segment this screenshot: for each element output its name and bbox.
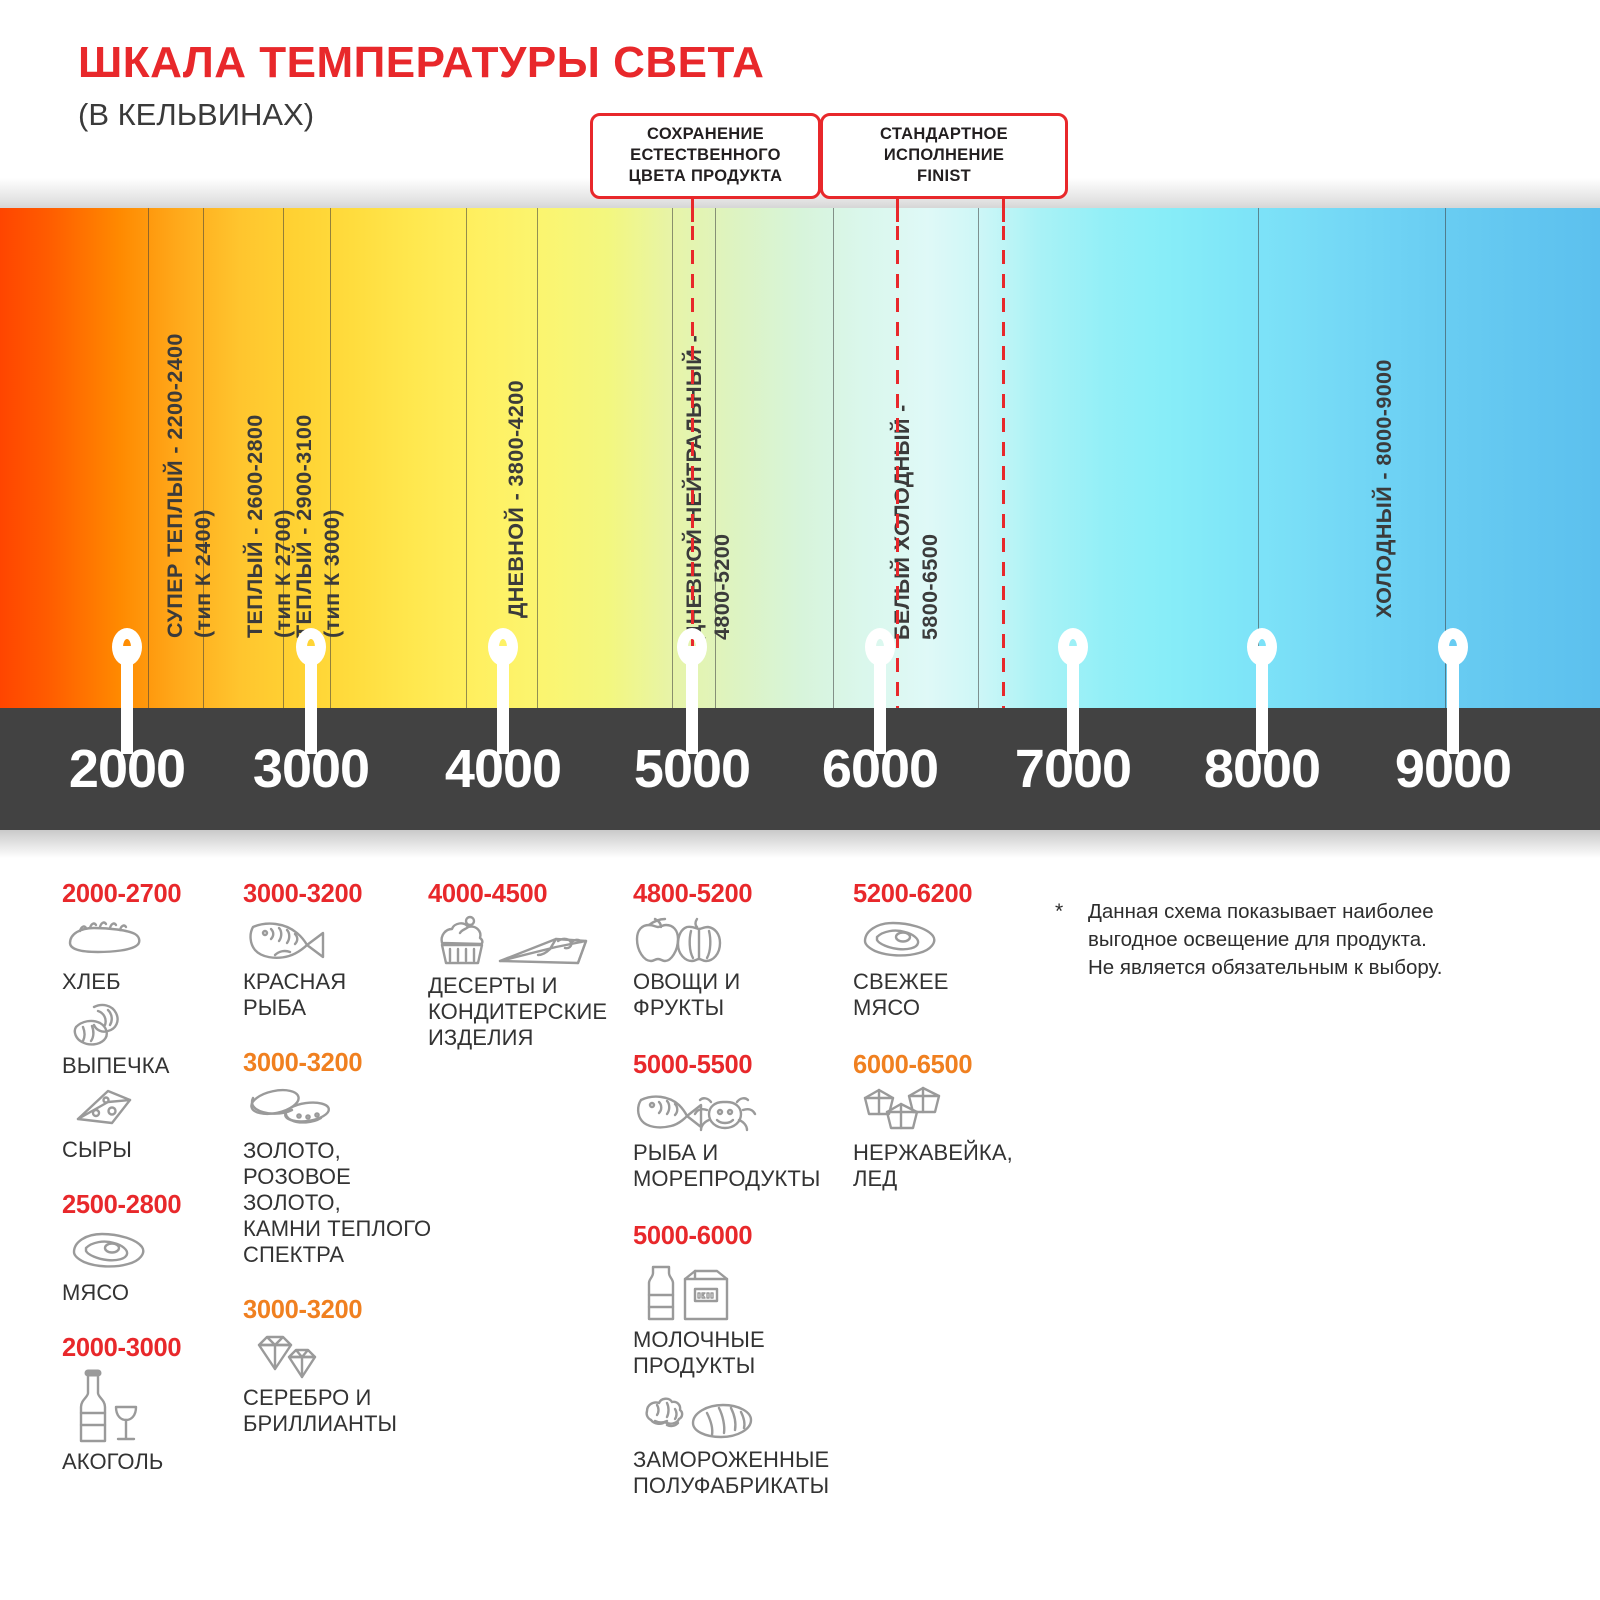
dashed-marker-line <box>1002 178 1005 708</box>
dessert-icon <box>430 915 628 971</box>
legend-item: ЗАМОРОЖЕННЫЕПОЛУФАБРИКАТЫ <box>633 1393 863 1499</box>
legend-group: 6000-6500 НЕРЖАВЕЙКА,ЛЕД <box>853 1051 1043 1192</box>
legend-group: 5000-6000 МОЛОЧНЫЕ ПРОДУКТЫ <box>633 1222 863 1499</box>
legend-column-5200: 5200-6200 СВЕЖЕЕМЯСО 6000-6500 <box>853 880 1043 1196</box>
legend-range-label: 5000-5500 <box>633 1051 863 1080</box>
legend-group: 2000-3000 АКОГОЛЬ <box>62 1334 242 1475</box>
red-fish-icon <box>245 915 443 967</box>
tick-label-9000: 9000 <box>1395 738 1511 800</box>
axis-bar <box>0 708 1600 830</box>
legend-item-label: ВЫПЕЧКА <box>62 1053 242 1079</box>
legend-item: СВЕЖЕЕМЯСО <box>853 915 1043 1021</box>
tick-ring <box>488 628 518 666</box>
band-label-line2: 5800-6500 <box>918 534 942 640</box>
legend-range-label: 3000-3200 <box>243 1296 443 1325</box>
vegetables-fruits-icon <box>635 915 863 967</box>
legend-item-label: СВЕЖЕЕМЯСО <box>853 969 1043 1021</box>
band-divider <box>148 208 149 708</box>
legend-group: 4800-5200 ОВОЩИ ИФРУКТЫ <box>633 880 863 1021</box>
color-temperature-gradient <box>0 208 1600 708</box>
tick-marker-8000 <box>1247 628 1277 754</box>
fish-seafood-icon <box>635 1086 863 1138</box>
legend-range-label: 3000-3200 <box>243 1049 443 1078</box>
legend-range-label: 5000-6000 <box>633 1222 863 1251</box>
band-label-cold: ХОЛОДНЫЙ - 8000-9000 <box>1372 359 1397 618</box>
legend-range-label: 2000-3000 <box>62 1334 242 1363</box>
legend-item-label: ОВОЩИ ИФРУКТЫ <box>633 969 863 1021</box>
footnote-asterisk: * <box>1055 898 1063 926</box>
legend-item: НЕРЖАВЕЙКА,ЛЕД <box>853 1086 1043 1192</box>
legend-item-label: АКОГОЛЬ <box>62 1449 242 1475</box>
band-label-line1: БЕЛЫЙ ХОЛОДНЫЙ - <box>890 404 914 640</box>
spectrum-band: СУПЕР ТЕПЛЫЙ - 2200-2400 (тип К 2400) ТЕ… <box>0 178 1600 860</box>
ice-cubes-icon <box>855 1086 1043 1138</box>
dashed-marker-line <box>896 178 899 708</box>
legend-item: МОЛОЧНЫЕ ПРОДУКТЫ <box>633 1259 863 1379</box>
legend-item-label: ДЕСЕРТЫ ИКОНДИТЕРСКИЕИЗДЕЛИЯ <box>428 973 628 1051</box>
tick-marker-5000 <box>677 628 707 754</box>
legend-item: КРАСНАЯРЫБА <box>243 915 443 1021</box>
legend-item: ХЛЕБ <box>62 915 242 995</box>
tick-label-7000: 7000 <box>1015 738 1131 800</box>
band-label-line1: ДНЕВНОЙ - 3800-4200 <box>504 380 528 618</box>
legend-item-label: МЯСО <box>62 1280 242 1306</box>
legend-group: 3000-3200 СЕРЕБРО ИБРИЛЛИАНТЫ <box>243 1296 443 1437</box>
legend-item-label: КРАСНАЯРЫБА <box>243 969 443 1021</box>
legend-range-label: 5200-6200 <box>853 880 1043 909</box>
legend-item-label: МОЛОЧНЫЕ ПРОДУКТЫ <box>633 1327 863 1379</box>
legend-item: СЕРЕБРО ИБРИЛЛИАНТЫ <box>243 1331 443 1437</box>
cheese-icon <box>64 1083 242 1135</box>
tick-label-3000: 3000 <box>253 738 369 800</box>
band-divider <box>537 208 538 708</box>
band-label-super-warm: СУПЕР ТЕПЛЫЙ - 2200-2400 <box>163 333 188 638</box>
legend-column-4800: 4800-5200 ОВОЩИ ИФРУКТЫ <box>633 880 863 1503</box>
legend: 2000-2700 ХЛЕБ <box>0 880 1600 1600</box>
legend-item-label: ЗОЛОТО,РОЗОВОЕ ЗОЛОТО,КАМНИ ТЕПЛОГОСПЕКТ… <box>243 1138 443 1268</box>
legend-group: 5200-6200 СВЕЖЕЕМЯСО <box>853 880 1043 1021</box>
legend-group: 3000-3200 КРАСНАЯРЫБА <box>243 880 443 1021</box>
callout-finist-standard: СТАНДАРТНОЕ ИСПОЛНЕНИЕ FINIST <box>820 113 1068 199</box>
callout-stem-finist-a <box>896 198 899 222</box>
band-divider <box>672 208 673 708</box>
legend-item: АКОГОЛЬ <box>62 1369 242 1475</box>
tick-label-4000: 4000 <box>445 738 561 800</box>
gold-rings-icon <box>245 1084 443 1136</box>
tick-ring <box>112 628 142 666</box>
tick-ring <box>1247 628 1277 666</box>
band-label-line2: 4800-5200 <box>710 534 734 640</box>
legend-column-3000: 3000-3200 КРАСНАЯРЫБА 3000 <box>243 880 443 1441</box>
tick-label-2000: 2000 <box>69 738 185 800</box>
tick-ring <box>865 628 895 666</box>
band-label-warm-3000: ТЕПЛЫЙ - 2900-3100 <box>292 414 317 638</box>
footnote-line-1: Данная схема показывает наиболее <box>1088 898 1560 926</box>
legend-group: 2500-2800 МЯСО <box>62 1191 242 1306</box>
legend-group: 4000-4500 ДЕС <box>428 880 628 1051</box>
dairy-icon <box>635 1259 863 1325</box>
legend-range-label: 3000-3200 <box>243 880 443 909</box>
callout-line-3: ЦВЕТА ПРОДУКТА <box>603 166 808 187</box>
legend-item: МЯСО <box>62 1226 242 1306</box>
band-divider <box>466 208 467 708</box>
axis-bar-shadow <box>0 830 1600 858</box>
tick-marker-6000 <box>865 628 895 754</box>
callout-line-3: FINIST <box>833 166 1055 187</box>
band-label-super-warm-type: (тип К 2400) <box>191 509 216 638</box>
band-label-line1: ХОЛОДНЫЙ - 8000-9000 <box>1372 359 1396 618</box>
band-label-line1: ТЕПЛЫЙ - 2900-3100 <box>292 414 316 638</box>
legend-item-label: СЫРЫ <box>62 1137 242 1163</box>
callout-natural-color: СОХРАНЕНИЕ ЕСТЕСТВЕННОГО ЦВЕТА ПРОДУКТА <box>590 113 821 199</box>
legend-item-label: НЕРЖАВЕЙКА,ЛЕД <box>853 1140 1043 1192</box>
legend-item: СЫРЫ <box>62 1083 242 1163</box>
footnote: * Данная схема показывает наиболее выгод… <box>1055 898 1560 982</box>
callout-line-1: СТАНДАРТНОЕ <box>833 124 1055 145</box>
page-title: ШКАЛА ТЕМПЕРАТУРЫ СВЕТА <box>78 38 764 88</box>
infographic-root: ШКАЛА ТЕМПЕРАТУРЫ СВЕТА (В КЕЛЬВИНАХ) СО… <box>0 0 1600 1600</box>
legend-item-label: ЗАМОРОЖЕННЫЕПОЛУФАБРИКАТЫ <box>633 1447 863 1499</box>
tick-marker-2000 <box>112 628 142 754</box>
tick-marker-3000 <box>296 628 326 754</box>
band-label-line2: (тип К 3000) <box>320 509 344 638</box>
legend-item-label: ХЛЕБ <box>62 969 242 995</box>
band-label-line2: (тип К 2400) <box>191 509 215 638</box>
band-label-daylight-neutral: ДНЕВНОЙ НЕЙТРАЛЬНЫЙ - <box>682 335 707 640</box>
band-label-line1: ТЕПЛЫЙ - 2600-2800 <box>243 414 267 638</box>
tick-label-5000: 5000 <box>634 738 750 800</box>
legend-range-label: 6000-6500 <box>853 1051 1043 1080</box>
legend-item-label: РЫБА ИМОРЕПРОДУКТЫ <box>633 1140 863 1192</box>
band-label-warm-2700: ТЕПЛЫЙ - 2600-2800 <box>243 414 268 638</box>
band-label-white-cold: БЕЛЫЙ ХОЛОДНЫЙ - <box>890 404 915 640</box>
legend-item: ОВОЩИ ИФРУКТЫ <box>633 915 863 1021</box>
tick-ring <box>1438 628 1468 666</box>
tick-marker-9000 <box>1438 628 1468 754</box>
legend-item-label: СЕРЕБРО ИБРИЛЛИАНТЫ <box>243 1385 443 1437</box>
legend-column-2000: 2000-2700 ХЛЕБ <box>62 880 242 1479</box>
band-label-warm-3000-type: (тип К 3000) <box>320 509 345 638</box>
tick-ring <box>296 628 326 666</box>
callout-stem-finist-b <box>1002 198 1005 222</box>
callout-line-2: ИСПОЛНЕНИЕ <box>833 145 1055 166</box>
legend-item: ВЫПЕЧКА <box>62 999 242 1079</box>
legend-item: РЫБА ИМОРЕПРОДУКТЫ <box>633 1086 863 1192</box>
tick-label-8000: 8000 <box>1204 738 1320 800</box>
tick-ring <box>677 628 707 666</box>
legend-group: 5000-5500 <box>633 1051 863 1192</box>
footnote-line-3: Не является обязательным к выбору. <box>1088 954 1560 982</box>
meat-icon <box>64 1226 242 1278</box>
legend-column-4000: 4000-4500 ДЕС <box>428 880 628 1055</box>
fresh-meat-icon <box>855 915 1043 967</box>
callout-stem-natural-color <box>691 198 694 222</box>
legend-group: 2000-2700 ХЛЕБ <box>62 880 242 1163</box>
band-divider <box>978 208 979 708</box>
legend-range-label: 4800-5200 <box>633 880 863 909</box>
band-label-daylight: ДНЕВНОЙ - 3800-4200 <box>504 380 529 618</box>
legend-item: ДЕСЕРТЫ ИКОНДИТЕРСКИЕИЗДЕЛИЯ <box>428 915 628 1051</box>
diamond-icon <box>245 1331 443 1383</box>
legend-range-label: 4000-4500 <box>428 880 628 909</box>
band-label-line1: ДНЕВНОЙ НЕЙТРАЛЬНЫЙ - <box>682 335 706 640</box>
callout-line-1: СОХРАНЕНИЕ <box>603 124 808 145</box>
band-label-white-cold-range: 5800-6500 <box>918 534 943 640</box>
legend-group: 3000-3200 ЗОЛОТО,РОЗОВОЕ ЗОЛОТО,КАМНИ ТЕ… <box>243 1049 443 1268</box>
tick-marker-4000 <box>488 628 518 754</box>
legend-range-label: 2500-2800 <box>62 1191 242 1220</box>
callout-line-2: ЕСТЕСТВЕННОГО <box>603 145 808 166</box>
legend-range-label: 2000-2700 <box>62 880 242 909</box>
tick-ring <box>1058 628 1088 666</box>
frozen-food-icon <box>635 1393 863 1445</box>
page-subtitle: (В КЕЛЬВИНАХ) <box>78 97 314 133</box>
tick-label-6000: 6000 <box>822 738 938 800</box>
band-label-daylight-neutral-range: 4800-5200 <box>710 534 735 640</box>
bread-icon <box>64 915 242 967</box>
alcohol-icon <box>64 1369 242 1447</box>
footnote-line-2: выгодное освещение для продукта. <box>1088 926 1560 954</box>
legend-item: ЗОЛОТО,РОЗОВОЕ ЗОЛОТО,КАМНИ ТЕПЛОГОСПЕКТ… <box>243 1084 443 1268</box>
band-label-line1: СУПЕР ТЕПЛЫЙ - 2200-2400 <box>163 333 187 638</box>
band-divider <box>833 208 834 708</box>
tick-marker-7000 <box>1058 628 1088 754</box>
pastry-icon <box>64 999 242 1051</box>
